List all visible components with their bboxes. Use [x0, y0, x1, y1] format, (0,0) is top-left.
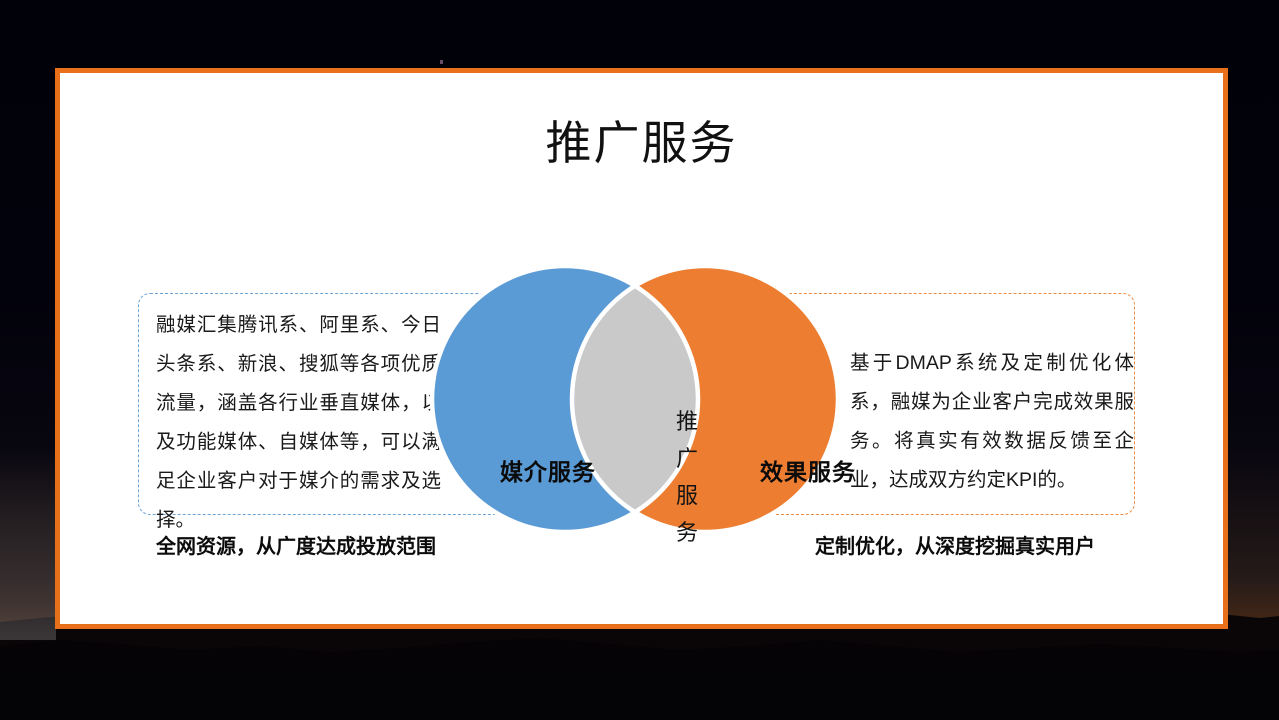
venn-left-label: 媒介服务: [500, 453, 596, 487]
content-card: 推广服务 融媒汇集腾讯系、阿里系、今日头条系、新浪、搜狐等各项优质流量，涵盖各行…: [55, 68, 1228, 629]
venn-diagram: [415, 259, 855, 539]
venn-intersection-label: 推 广 服 务: [674, 403, 700, 551]
decorative-dot: [440, 60, 443, 64]
venn-center-char-1: 广: [674, 440, 700, 477]
slide-root: 推广服务 融媒汇集腾讯系、阿里系、今日头条系、新浪、搜狐等各项优质流量，涵盖各行…: [0, 0, 1279, 720]
venn-center-char-2: 服: [674, 477, 700, 514]
right-caption: 定制优化，从深度挖掘真实用户: [815, 534, 1095, 560]
right-description-text: 基于DMAP系统及定制优化体系，融媒为企业客户完成效果服务。将真实有效数据反馈至…: [850, 344, 1134, 500]
background-foreground-dark: [0, 672, 1279, 720]
venn-center-char-3: 务: [674, 514, 700, 551]
venn-right-label: 效果服务: [760, 453, 856, 487]
left-description-text: 融媒汇集腾讯系、阿里系、今日头条系、新浪、搜狐等各项优质流量，涵盖各行业垂直媒体…: [156, 306, 441, 540]
left-caption: 全网资源，从广度达成投放范围: [156, 534, 436, 560]
page-title: 推广服务: [60, 115, 1223, 171]
venn-center-char-0: 推: [674, 403, 700, 440]
background-left-gradient: [0, 0, 56, 640]
